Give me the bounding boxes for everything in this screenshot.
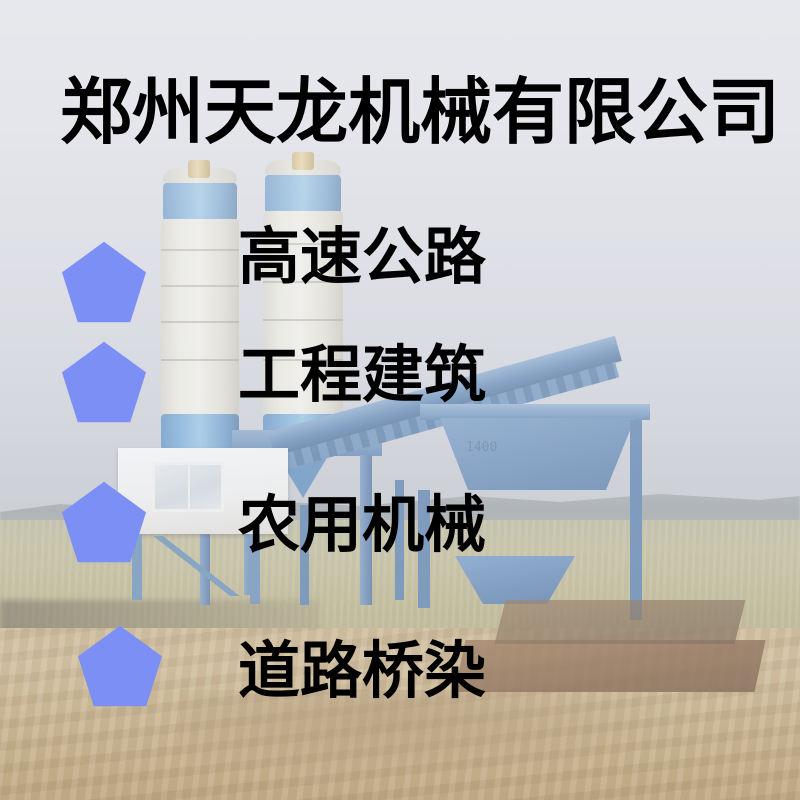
feature-label-1: 高速公路 (238, 226, 486, 288)
product-poster: 1400 郑州天龙机械有限公司 高速公路 (0, 0, 800, 800)
poster-content: 郑州天龙机械有限公司 高速公路 工程建筑 农用机械 (0, 0, 800, 800)
feature-label-2: 工程建筑 (238, 344, 486, 406)
feature-row-1: 高速公路 (0, 226, 800, 318)
pentagon-bullet-icon (60, 340, 148, 424)
feature-row-4: 道路桥染 (0, 640, 800, 732)
pentagon-bullet-icon (60, 480, 148, 564)
feature-label-3: 农用机械 (238, 494, 486, 556)
company-title: 郑州天龙机械有限公司 (60, 76, 780, 148)
pentagon-bullet-icon (60, 240, 148, 324)
feature-label-4: 道路桥染 (238, 640, 486, 702)
feature-row-2: 工程建筑 (0, 344, 800, 436)
feature-row-3: 农用机械 (0, 494, 800, 586)
pentagon-bullet-icon (76, 624, 164, 708)
